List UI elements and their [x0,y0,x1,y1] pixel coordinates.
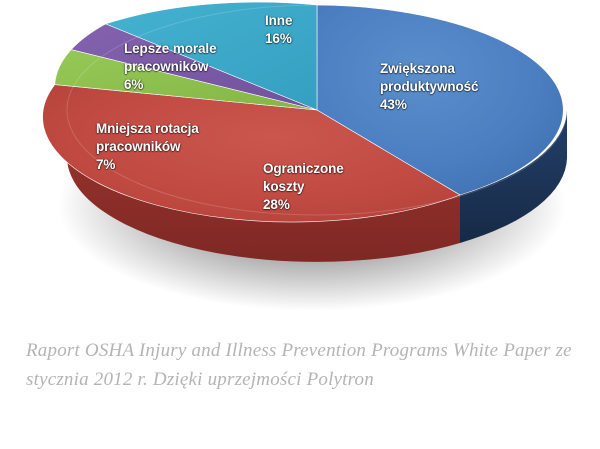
pie-chart-area: Zwiększona produktywność43% Ograniczone … [0,0,600,320]
pie-chart-figure: Zwiększona produktywność43% Ograniczone … [0,0,600,449]
figure-caption: Raport OSHA Injury and Illness Preventio… [26,337,578,395]
pie-chart-svg [0,0,600,320]
